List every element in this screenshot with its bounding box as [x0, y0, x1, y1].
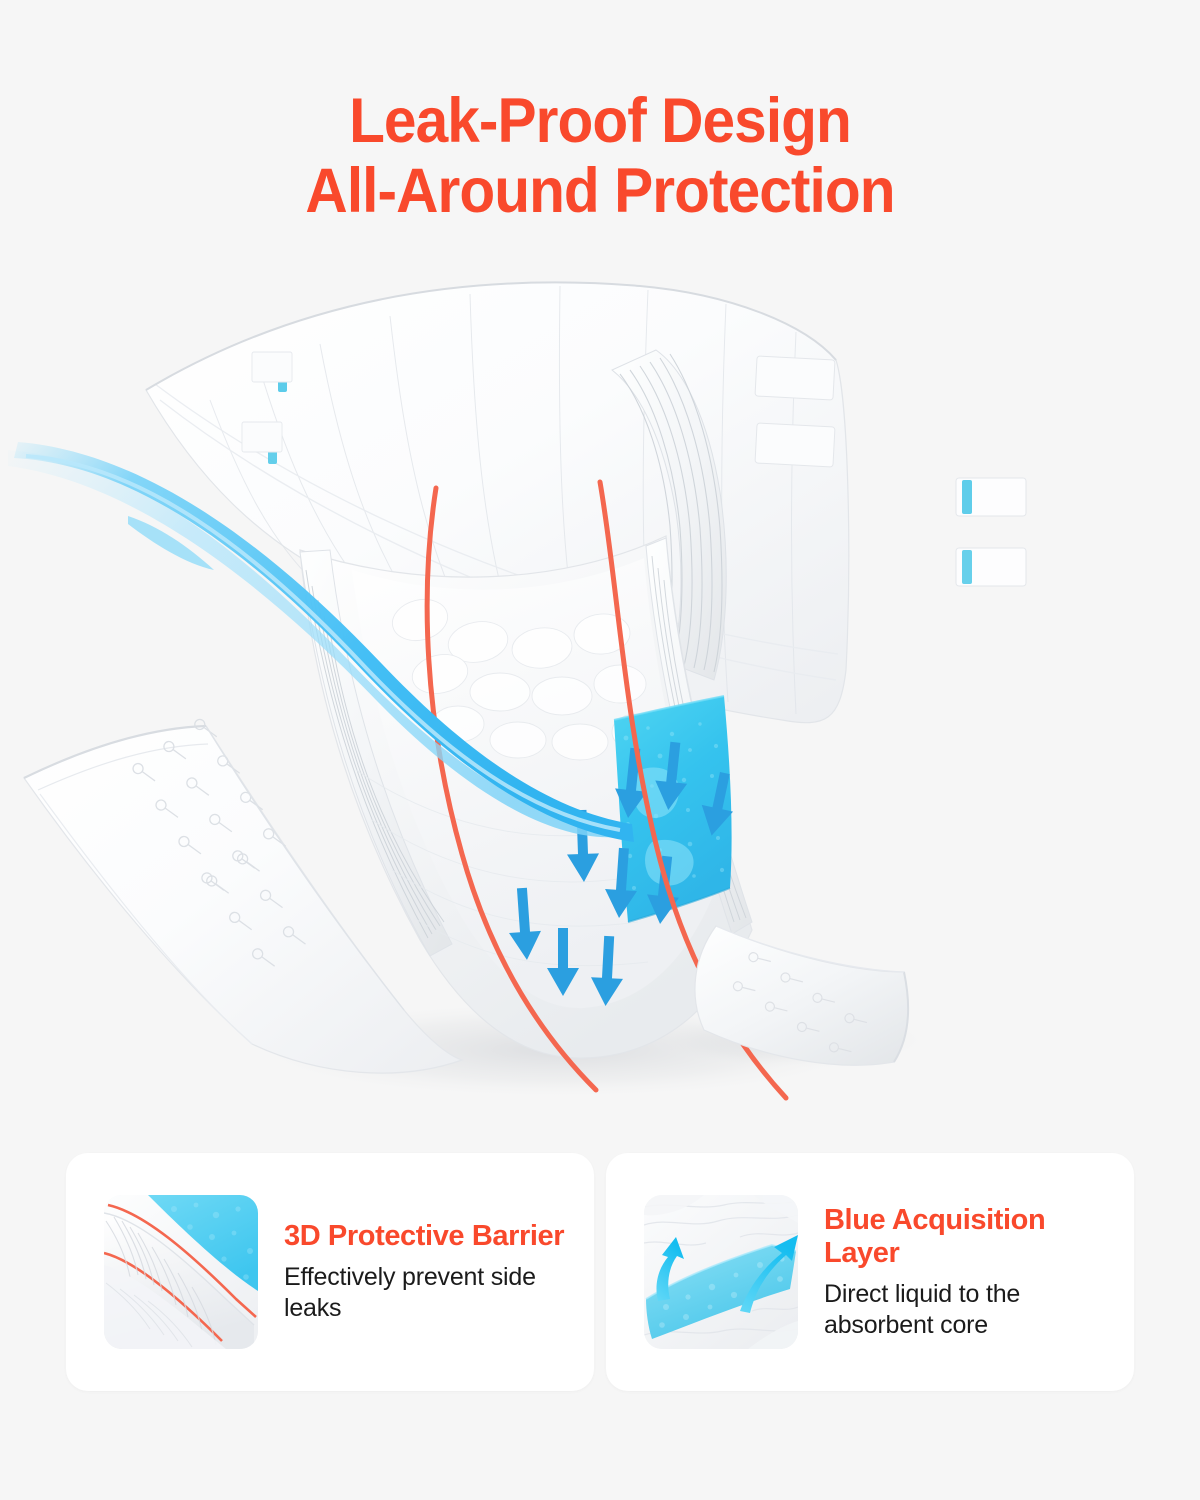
- feature-card-3d-protective-barrier[interactable]: 3D Protective Barrier Effectively preven…: [66, 1153, 594, 1391]
- feature-card-blue-acquisition-layer[interactable]: Blue Acquisition Layer Direct liquid to …: [606, 1153, 1134, 1391]
- feature-card-description: Effectively prevent side leaks: [284, 1262, 572, 1324]
- feature-card-list: 3D Protective Barrier Effectively preven…: [66, 1153, 1134, 1391]
- fastener-tab-panel-2: [755, 423, 835, 467]
- fastener-tab-panel-1: [755, 356, 835, 400]
- feature-card-description: Direct liquid to the absorbent core: [824, 1279, 1112, 1341]
- left-tab-panel-2: [242, 422, 282, 452]
- feature-card-text: 3D Protective Barrier Effectively preven…: [284, 1220, 572, 1324]
- page-title: Leak-Proof Design All-Around Protection: [42, 86, 1158, 226]
- page-title-line-2: All-Around Protection: [42, 156, 1158, 226]
- leg-cuff-barrier-photo: [104, 1195, 258, 1349]
- left-tab-panel-1: [252, 352, 292, 382]
- feature-card-text: Blue Acquisition Layer Direct liquid to …: [824, 1204, 1112, 1341]
- feature-card-title: Blue Acquisition Layer: [824, 1204, 1112, 1270]
- cyan-tab-strip-4: [962, 550, 972, 584]
- hero-product-illustration: [0, 250, 1200, 1130]
- cyan-tab-strip-3: [962, 480, 972, 514]
- acquisition-layer-photo: [644, 1195, 798, 1349]
- page-title-line-1: Leak-Proof Design: [42, 86, 1158, 156]
- feature-card-title: 3D Protective Barrier: [284, 1220, 572, 1253]
